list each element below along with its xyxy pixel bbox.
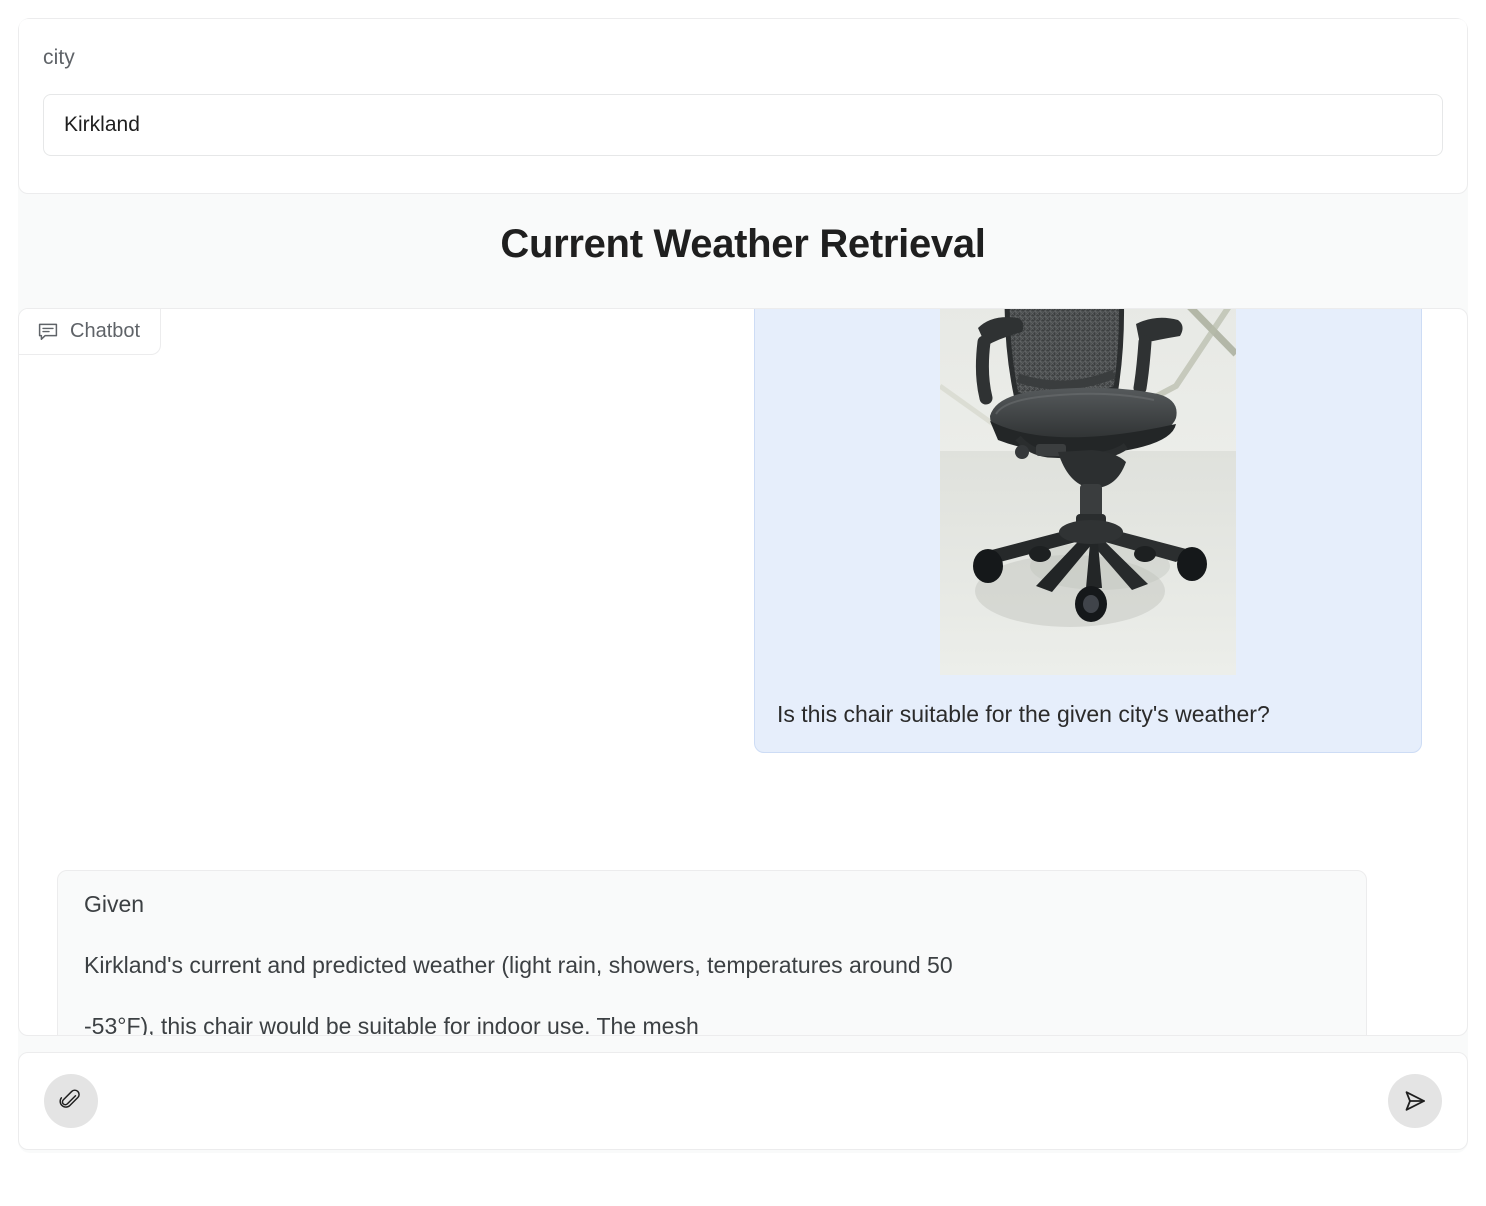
message-composer [18,1052,1468,1150]
bot-message-row: Given Kirkland's current and predicted w… [57,870,1367,1035]
office-chair-photo[interactable] [940,309,1236,675]
page-title: Current Weather Retrieval [18,214,1468,274]
city-input[interactable] [43,94,1443,156]
chatbot-component-tag: Chatbot [19,309,161,355]
attach-file-button[interactable] [44,1074,98,1128]
city-field-block: city [18,18,1468,194]
chatbot-panel: Is this chair suitable for the given cit… [18,308,1468,1036]
city-field-label: city [43,47,1443,68]
bot-message-line: Given [84,893,1340,916]
user-message-text: Is this chair suitable for the given cit… [777,675,1399,730]
app-root: city Current Weather Retrieval [0,0,1486,1206]
chatbot-component-label: Chatbot [70,320,140,343]
app-shell: city Current Weather Retrieval [18,18,1468,1153]
user-message-row: Is this chair suitable for the given cit… [754,309,1422,753]
paperclip-icon [58,1088,84,1114]
bot-message-line: -53°F), this chair would be suitable for… [84,1015,1340,1035]
chat-message-list[interactable]: Is this chair suitable for the given cit… [19,309,1467,1035]
bot-message-bubble: Given Kirkland's current and predicted w… [57,870,1367,1035]
send-message-button[interactable] [1388,1074,1442,1128]
user-message-bubble: Is this chair suitable for the given cit… [754,309,1422,753]
bot-message-line: Kirkland's current and predicted weather… [84,954,1340,977]
send-icon [1402,1088,1428,1114]
comment-icon [37,321,59,343]
